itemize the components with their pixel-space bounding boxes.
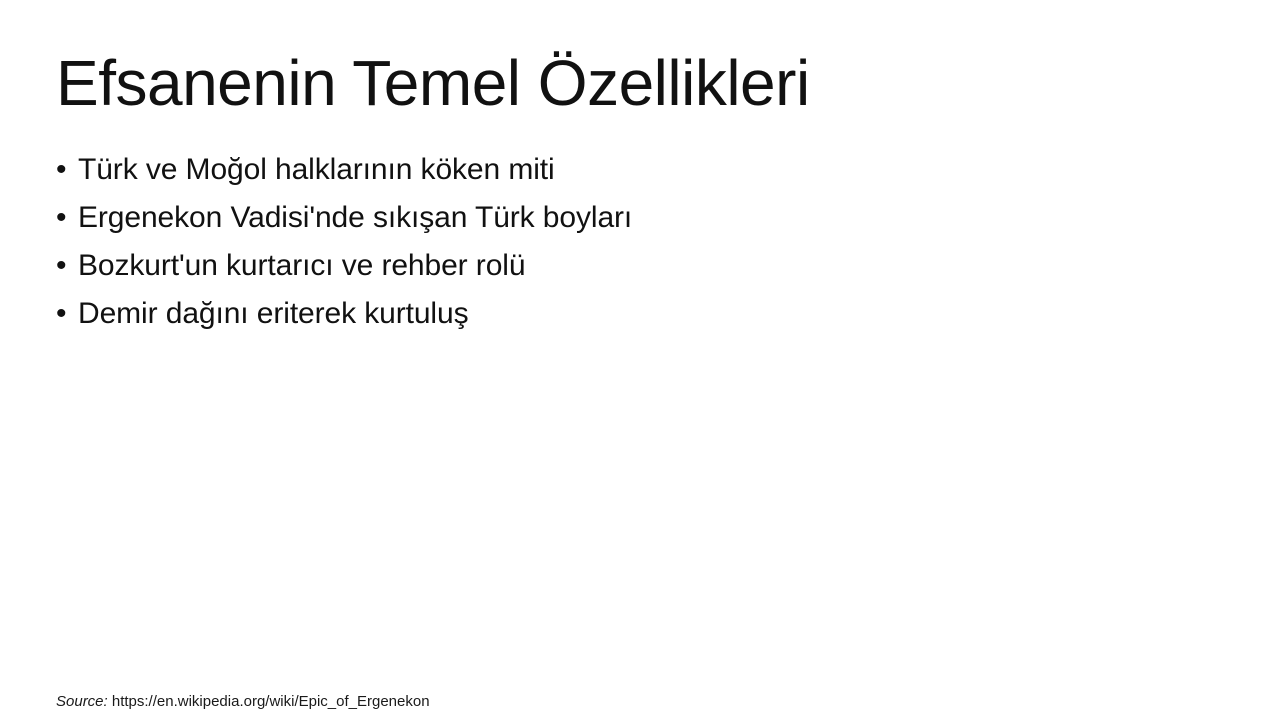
list-item-label: Ergenekon Vadisi'nde sıkışan Türk boylar… <box>78 194 632 242</box>
list-item-label: Bozkurt'un kurtarıcı ve rehber rolü <box>78 242 525 290</box>
page-title: Efsanenin Temel Özellikleri <box>56 48 1224 120</box>
source-url: https://en.wikipedia.org/wiki/Epic_of_Er… <box>112 693 430 710</box>
source-attribution: Source: https://en.wikipedia.org/wiki/Ep… <box>56 692 430 712</box>
list-item: • Ergenekon Vadisi'nde sıkışan Türk boyl… <box>56 194 1216 242</box>
presentation-slide: Efsanenin Temel Özellikleri • Türk ve Mo… <box>0 0 1280 720</box>
list-item-label: Türk ve Moğol halklarının köken miti <box>78 146 555 194</box>
bullet-point-icon: • <box>56 146 78 194</box>
list-item: • Bozkurt'un kurtarıcı ve rehber rolü <box>56 242 1216 290</box>
bullet-point-icon: • <box>56 194 78 242</box>
list-item-label: Demir dağını eriterek kurtuluş <box>78 290 469 338</box>
bullet-point-icon: • <box>56 242 78 290</box>
bullet-list: • Türk ve Moğol halklarının köken miti •… <box>56 146 1216 338</box>
list-item: • Türk ve Moğol halklarının köken miti <box>56 146 1216 194</box>
source-label: Source: <box>56 693 108 710</box>
bullet-point-icon: • <box>56 290 78 338</box>
list-item: • Demir dağını eriterek kurtuluş <box>56 290 1216 338</box>
